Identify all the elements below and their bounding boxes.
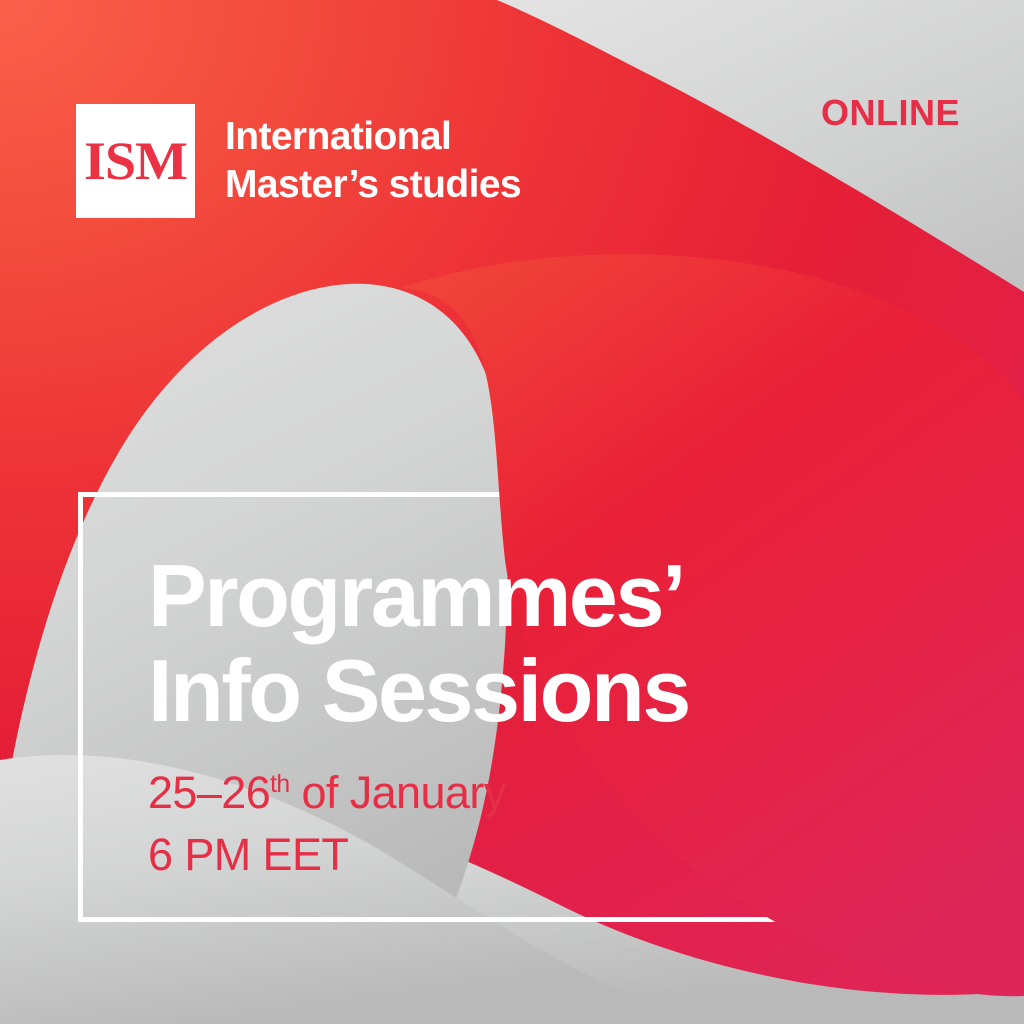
ism-logo-text: ISM bbox=[84, 134, 187, 188]
event-details: 25–26th of January 6 PM EET bbox=[148, 762, 506, 886]
event-date-range: 25–26 bbox=[148, 767, 270, 818]
event-time: 6 PM EET bbox=[148, 824, 506, 886]
online-badge: ONLINE bbox=[821, 92, 960, 134]
promo-poster: ISM International Master’s studies ONLIN… bbox=[0, 0, 1024, 1024]
ism-logo-mark: ISM bbox=[76, 104, 195, 218]
event-date-ordinal: th bbox=[270, 771, 289, 798]
headline-line1: Programmes’ bbox=[148, 548, 689, 643]
brand-name: International Master’s studies bbox=[225, 113, 521, 208]
brand-name-line2: Master’s studies bbox=[225, 161, 521, 209]
event-date-month: of January bbox=[290, 767, 506, 818]
headline: Programmes’ Info Sessions bbox=[148, 548, 689, 738]
headline-line2: Info Sessions bbox=[148, 643, 689, 738]
brand-lockup: ISM International Master’s studies bbox=[76, 104, 521, 218]
brand-name-line1: International bbox=[225, 113, 521, 161]
event-date: 25–26th of January bbox=[148, 762, 506, 824]
